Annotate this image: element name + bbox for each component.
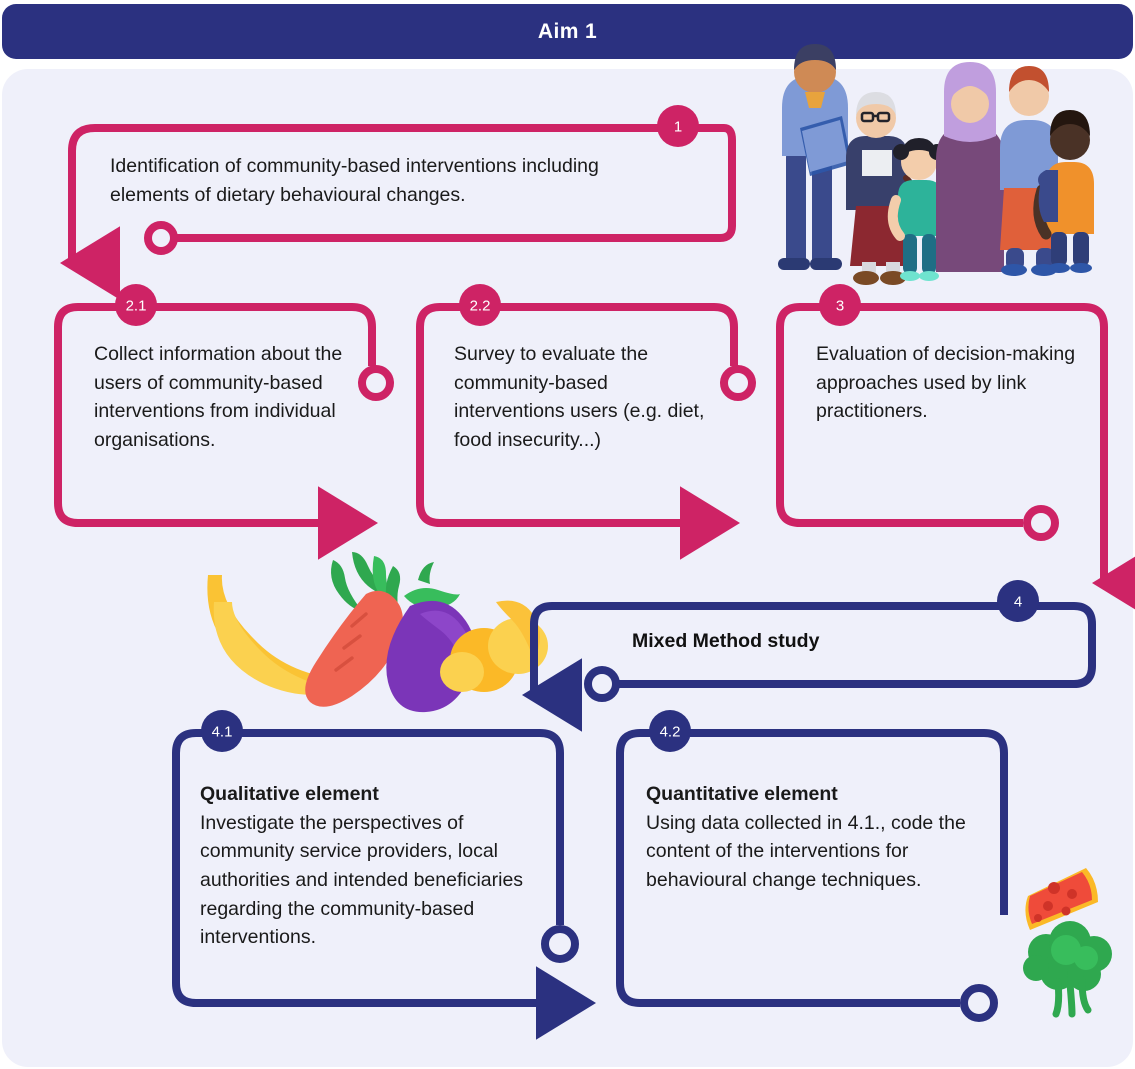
diagram-root: Aim 1	[0, 0, 1135, 1069]
node-4-text: Mixed Method study	[632, 630, 819, 653]
node-4-2-title: Quantitative element	[646, 780, 986, 809]
node-4-2-text: Quantitative element Using data collecte…	[646, 780, 986, 895]
header-bar: Aim 1	[2, 4, 1133, 59]
page-title: Aim 1	[538, 20, 597, 44]
node-1-text: Identification of community-based interv…	[110, 152, 650, 209]
node-4-1-text: Qualitative element Investigate the pers…	[200, 780, 540, 952]
node-4-1-body: Investigate the perspectives of communit…	[200, 812, 523, 949]
node-2-2-text: Survey to evaluate the community-based i…	[454, 340, 722, 455]
node-3-text: Evaluation of decision-making approaches…	[816, 340, 1078, 426]
node-2-1-text: Collect information about the users of c…	[94, 340, 354, 455]
diagram-panel	[2, 69, 1133, 1067]
node-4-2-body: Using data collected in 4.1., code the c…	[646, 812, 966, 891]
node-4-1-title: Qualitative element	[200, 780, 540, 809]
